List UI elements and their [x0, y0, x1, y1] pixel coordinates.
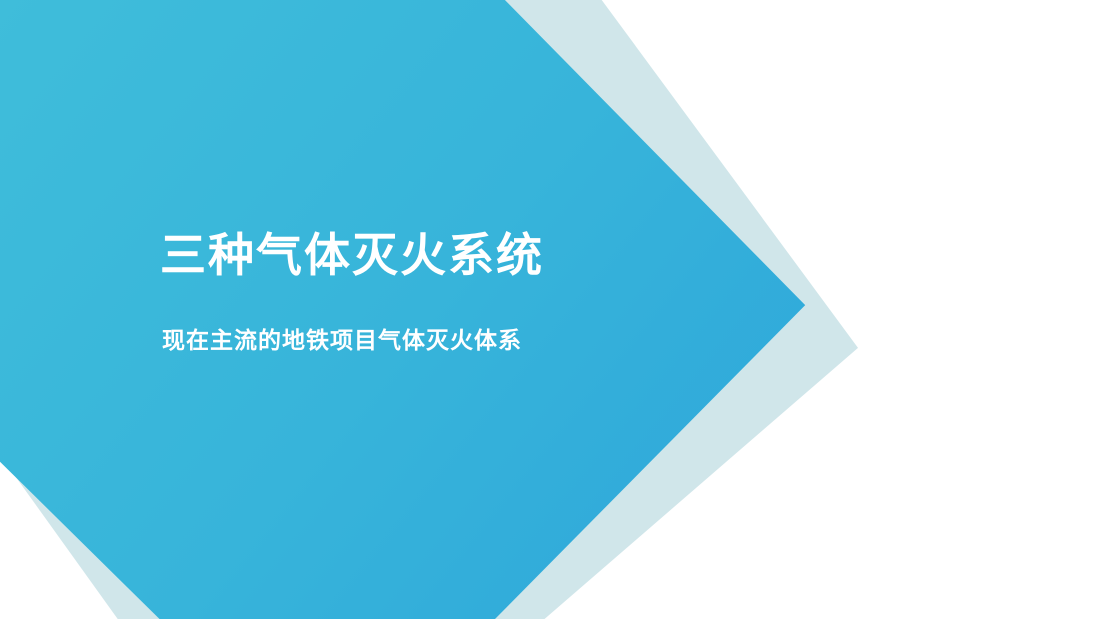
page-subtitle: 现在主流的地铁项目气体灭火体系: [162, 326, 800, 356]
title-block: 三种气体灭火系统 现在主流的地铁项目气体灭火体系: [160, 228, 800, 356]
title-slide: 三种气体灭火系统 现在主流的地铁项目气体灭火体系: [0, 0, 1100, 619]
page-title: 三种气体灭火系统: [160, 228, 800, 282]
